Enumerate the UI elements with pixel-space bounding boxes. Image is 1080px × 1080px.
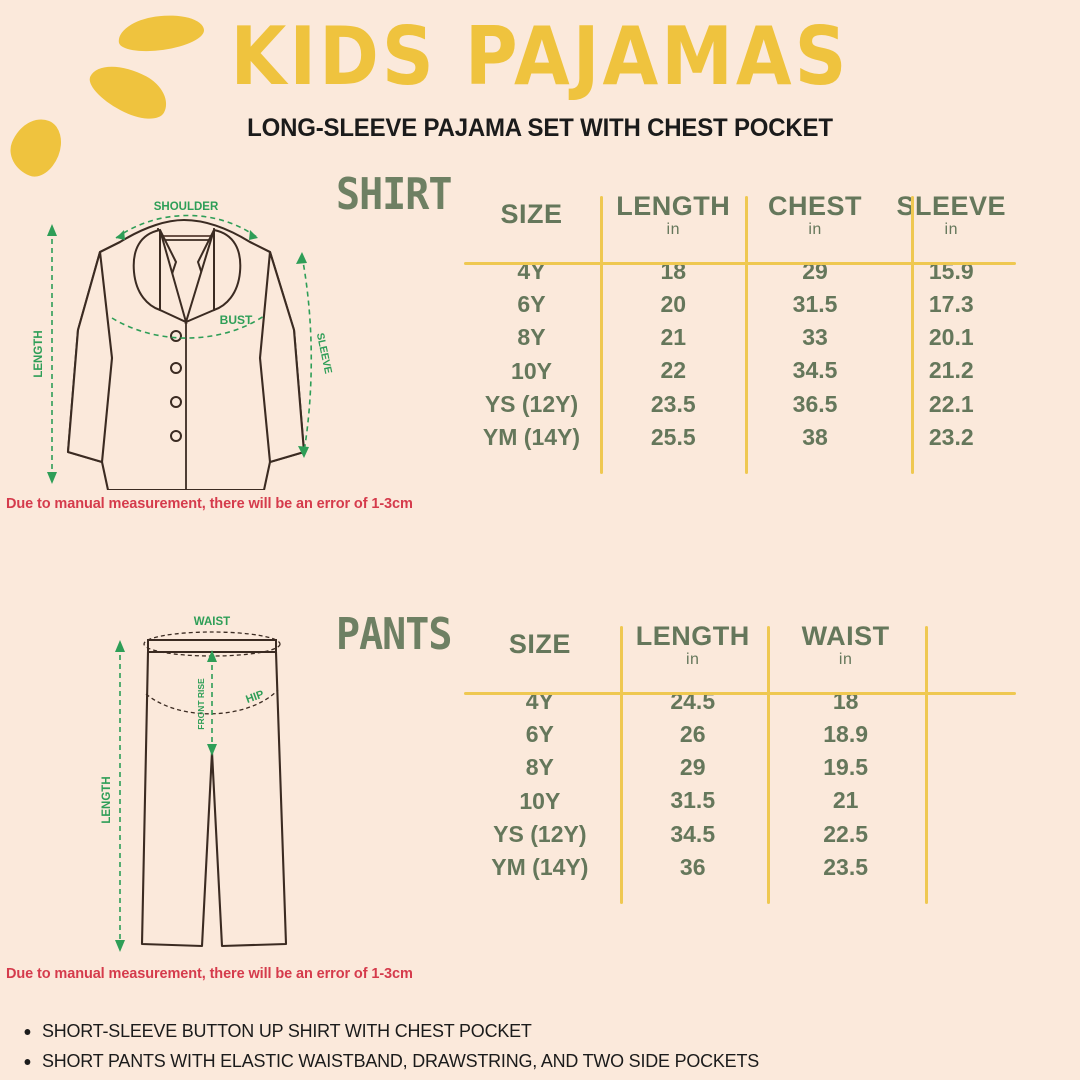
- cell-waist: 23.5: [768, 851, 924, 884]
- shirt-label-shoulder: SHOULDER: [154, 201, 219, 213]
- cell-sleeve: 17.3: [885, 288, 1018, 321]
- cell-sleeve: 23.2: [885, 421, 1018, 454]
- cell-length: 25.5: [601, 421, 746, 454]
- cell-empty: [923, 685, 1018, 718]
- cell-length: 29: [618, 751, 768, 784]
- table-row: 8Y 21 33 20.1: [462, 321, 1018, 354]
- shirt-table-header-rule: [464, 262, 1016, 265]
- cell-size: YS (12Y): [462, 388, 601, 421]
- cell-empty: [923, 818, 1018, 851]
- cell-length: 24.5: [618, 685, 768, 718]
- cell-chest: 29: [746, 255, 885, 288]
- cell-chest: 38: [746, 421, 885, 454]
- list-item: SHORT PANTS WITH ELASTIC WAISTBAND, DRAW…: [42, 1046, 759, 1076]
- header-rule-spacer: [462, 669, 1018, 685]
- table-header-row: SIZE LENGTH in CHEST in SLEEVE in: [462, 192, 1018, 239]
- table-row: YS (12Y) 23.5 36.5 22.1: [462, 388, 1018, 421]
- header-rule-spacer: [462, 239, 1018, 255]
- pants-table-divider: [925, 626, 928, 904]
- cell-sleeve: 20.1: [885, 321, 1018, 354]
- pants-size-table: SIZE LENGTH in WAIST in: [462, 622, 1018, 884]
- column-header-size: SIZE: [462, 192, 601, 239]
- cell-size: YS (12Y): [462, 818, 618, 851]
- cell-length: 18: [601, 255, 746, 288]
- page-subtitle: LONG-SLEEVE PAJAMA SET WITH CHEST POCKET: [22, 114, 1059, 143]
- cell-length: 21: [601, 321, 746, 354]
- cell-size: 6Y: [462, 288, 601, 321]
- cell-length: 26: [618, 718, 768, 751]
- pants-section-heading: PANTS: [336, 610, 451, 660]
- cell-chest: 34.5: [746, 354, 885, 387]
- cell-empty: [923, 784, 1018, 817]
- cell-chest: 31.5: [746, 288, 885, 321]
- column-header-size: SIZE: [462, 622, 618, 669]
- cell-length: 31.5: [618, 784, 768, 817]
- shirt-table-divider: [600, 196, 603, 474]
- cell-size: 8Y: [462, 751, 618, 784]
- shirt-diagram: SHOULDER LENGTH BUST SLEEVE: [8, 190, 368, 490]
- cell-size: 6Y: [462, 718, 618, 751]
- cell-waist: 18: [768, 685, 924, 718]
- table-row: 6Y 26 18.9: [462, 718, 1018, 751]
- column-header-waist: WAIST in: [768, 622, 924, 669]
- cell-length: 36: [618, 851, 768, 884]
- cell-empty: [923, 751, 1018, 784]
- cell-length: 22: [601, 354, 746, 387]
- table-row: 4Y 24.5 18: [462, 685, 1018, 718]
- page-title: KIDS PAJAMAS: [0, 9, 1080, 103]
- cell-sleeve: 21.2: [885, 354, 1018, 387]
- list-item: SHORT-SLEEVE BUTTON UP SHIRT WITH CHEST …: [42, 1016, 759, 1046]
- column-header-length: LENGTH in: [618, 622, 768, 669]
- cell-waist: 19.5: [768, 751, 924, 784]
- table-row: 10Y 22 34.5 21.2: [462, 354, 1018, 387]
- cell-size: 10Y: [462, 784, 618, 817]
- table-header-row: SIZE LENGTH in WAIST in: [462, 622, 1018, 669]
- pants-diagram: WAIST HIP FRONT RISE LENGTH: [80, 600, 380, 980]
- column-header-length: LENGTH in: [601, 192, 746, 239]
- cell-size: 8Y: [462, 321, 601, 354]
- cell-length: 20: [601, 288, 746, 321]
- shirt-table-divider: [911, 196, 914, 474]
- cell-length: 34.5: [618, 818, 768, 851]
- shirt-label-bust: BUST: [220, 313, 253, 327]
- table-row: 6Y 20 31.5 17.3: [462, 288, 1018, 321]
- cell-length: 23.5: [601, 388, 746, 421]
- size-chart-page: KIDS PAJAMAS LONG-SLEEVE PAJAMA SET WITH…: [0, 0, 1080, 1080]
- cell-waist: 22.5: [768, 818, 924, 851]
- table-row: 10Y 31.5 21: [462, 784, 1018, 817]
- table-row: YM (14Y) 36 23.5: [462, 851, 1018, 884]
- column-header-chest: CHEST in: [746, 192, 885, 239]
- pants-label-front-rise: FRONT RISE: [196, 678, 206, 730]
- cell-size: 4Y: [462, 255, 601, 288]
- table-row: 4Y 18 29 15.9: [462, 255, 1018, 288]
- cell-sleeve: 15.9: [885, 255, 1018, 288]
- cell-size: YM (14Y): [462, 851, 618, 884]
- cell-chest: 33: [746, 321, 885, 354]
- cell-waist: 21: [768, 784, 924, 817]
- cell-empty: [923, 851, 1018, 884]
- shirt-section-heading: SHIRT: [336, 170, 451, 220]
- pants-table-header-rule: [464, 692, 1016, 695]
- shirt-measurement-disclaimer: Due to manual measurement, there will be…: [6, 496, 413, 512]
- cell-sleeve: 22.1: [885, 388, 1018, 421]
- shirt-label-length: LENGTH: [33, 330, 45, 377]
- cell-empty: [923, 718, 1018, 751]
- cell-size: YM (14Y): [462, 421, 601, 454]
- cell-size: 10Y: [462, 354, 601, 387]
- pants-table-divider: [767, 626, 770, 904]
- pants-measurement-disclaimer: Due to manual measurement, there will be…: [6, 966, 413, 982]
- pants-table-divider: [620, 626, 623, 904]
- cell-size: 4Y: [462, 685, 618, 718]
- pants-label-length: LENGTH: [101, 776, 113, 823]
- table-row: YM (14Y) 25.5 38 23.2: [462, 421, 1018, 454]
- table-row: 8Y 29 19.5: [462, 751, 1018, 784]
- shirt-table-divider: [745, 196, 748, 474]
- shirt-label-sleeve: SLEEVE: [314, 332, 334, 375]
- table-row: YS (12Y) 34.5 22.5: [462, 818, 1018, 851]
- shirt-size-table: SIZE LENGTH in CHEST in SLEEVE in: [462, 192, 1018, 454]
- column-header-sleeve: SLEEVE in: [885, 192, 1018, 239]
- column-header-empty: [923, 622, 1018, 669]
- product-notes-list: SHORT-SLEEVE BUTTON UP SHIRT WITH CHEST …: [18, 1016, 781, 1076]
- cell-chest: 36.5: [746, 388, 885, 421]
- pants-label-waist: WAIST: [194, 616, 230, 628]
- cell-waist: 18.9: [768, 718, 924, 751]
